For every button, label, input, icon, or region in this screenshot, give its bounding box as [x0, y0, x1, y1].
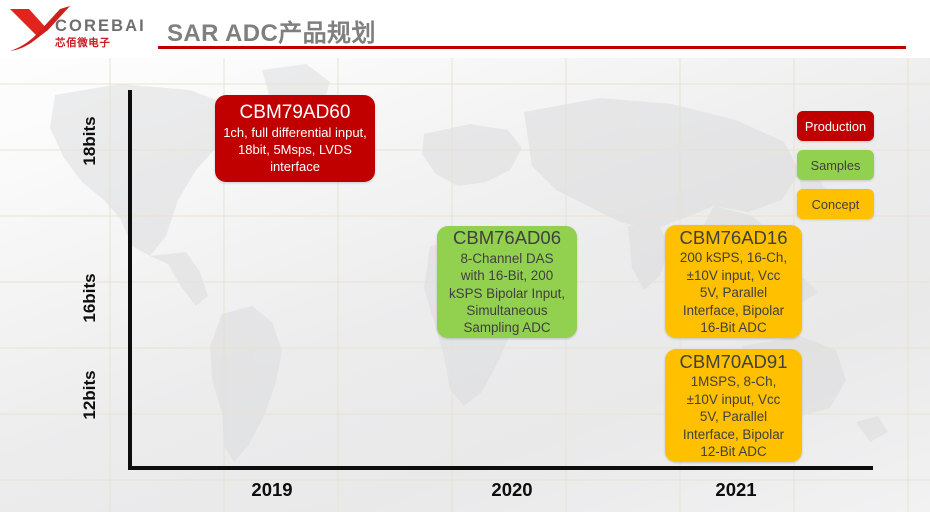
product-card-desc-line: Sampling ADC: [463, 319, 550, 336]
product-card-desc-line: 5V, Parallel: [700, 408, 767, 425]
legend-chip-concept[interactable]: Concept: [797, 189, 874, 219]
product-card-desc-line: ±10V input, Vcc: [687, 267, 781, 284]
product-card-desc-line: 1MSPS, 8-Ch,: [691, 373, 777, 390]
product-card-title: CBM76AD16: [680, 227, 788, 249]
y-axis-tick-18bits: 18bits: [80, 111, 100, 171]
product-card-cbm70ad91[interactable]: CBM70AD91 1MSPS, 8-Ch, ±10V input, Vcc 5…: [665, 349, 802, 462]
page-title: SAR ADC产品规划: [167, 13, 376, 48]
y-axis-tick-12bits: 12bits: [80, 365, 100, 425]
product-card-desc-line: Simultaneous: [466, 302, 547, 319]
y-axis-line: [128, 90, 132, 470]
product-card-title: CBM79AD60: [240, 102, 351, 124]
legend-chip-samples[interactable]: Samples: [797, 150, 874, 180]
product-card-desc-line: Interface, Bipolar: [683, 426, 784, 443]
x-axis-line: [128, 466, 873, 470]
product-card-cbm76ad16[interactable]: CBM76AD16 200 kSPS, 16-Ch, ±10V input, V…: [665, 225, 802, 338]
product-card-desc-line: 8-Channel DAS: [460, 250, 553, 267]
product-card-desc-line: 18bit, 5Msps, LVDS: [238, 142, 352, 159]
product-card-desc-line: 16-Bit ADC: [700, 319, 766, 336]
product-card-cbm76ad06[interactable]: CBM76AD06 8-Channel DAS with 16-Bit, 200…: [437, 226, 577, 338]
x-axis-tick-2020: 2020: [452, 479, 572, 501]
x-axis-tick-2019: 2019: [212, 479, 332, 501]
logo-word-chinese: 芯佰微电子: [55, 38, 146, 49]
product-card-desc-line: 5V, Parallel: [700, 284, 767, 301]
logo-word-corebai: COREBAI: [55, 18, 146, 35]
product-card-desc-line: 1ch, full differential input,: [223, 125, 367, 142]
product-card-desc-line: kSPS Bipolar Input,: [449, 285, 565, 302]
x-axis-tick-2021: 2021: [676, 479, 796, 501]
product-card-desc-line: 12-Bit ADC: [700, 443, 766, 460]
product-card-title: CBM70AD91: [680, 351, 788, 373]
title-underline-rule: [158, 46, 906, 49]
product-card-desc-line: 200 kSPS, 16-Ch,: [680, 249, 787, 266]
product-card-desc-line: with 16-Bit, 200: [461, 267, 553, 284]
product-card-desc-line: Interface, Bipolar: [683, 302, 784, 319]
legend-chip-production[interactable]: Production: [797, 111, 874, 141]
slide-canvas: COREBAI 芯佰微电子 SAR ADC产品规划 18bits 16bits …: [0, 0, 930, 512]
product-card-cbm79ad60[interactable]: CBM79AD60 1ch, full differential input, …: [215, 95, 375, 182]
product-card-title: CBM76AD06: [453, 227, 561, 249]
y-axis-tick-16bits: 16bits: [80, 268, 100, 328]
product-card-desc-line: ±10V input, Vcc: [687, 391, 781, 408]
logo-wordmark: COREBAI 芯佰微电子: [55, 18, 146, 48]
product-card-desc-line: interface: [270, 159, 320, 176]
